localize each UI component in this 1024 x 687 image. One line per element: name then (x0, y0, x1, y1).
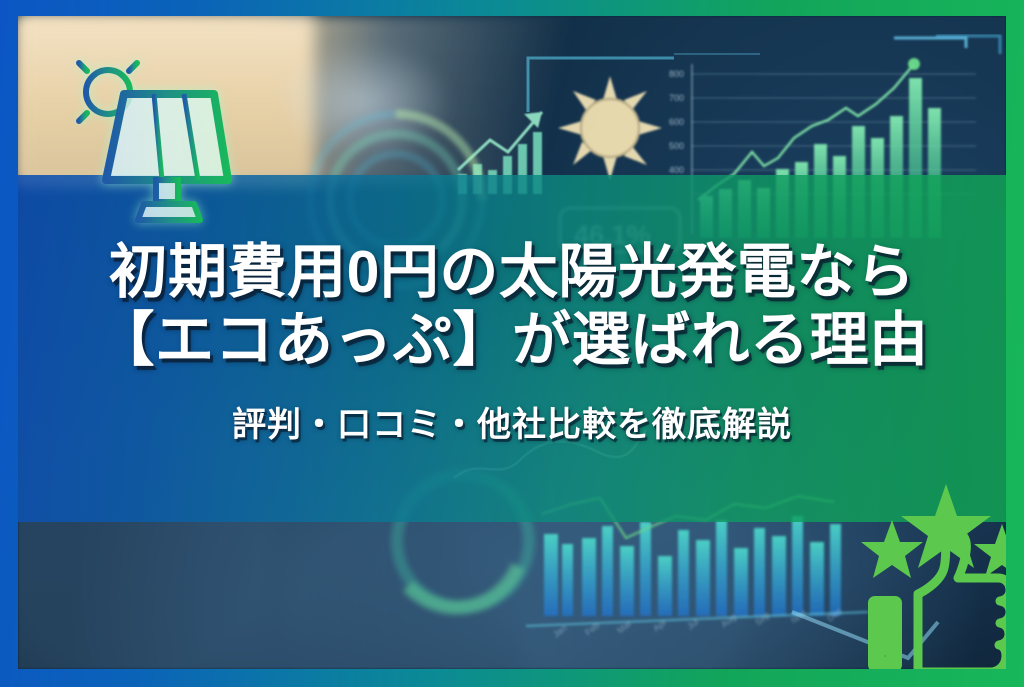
solar-panel-icon (48, 38, 248, 228)
promo-banner: 800 700 600 500 400 (0, 0, 1024, 687)
subtitle: 評判・口コミ・他社比較を徹底解説 (18, 397, 1006, 446)
title-line-1: 初期費用0円の太陽光発電なら (18, 238, 1006, 306)
title-line-2: 【エコあっぷ】が選ばれる理由 (18, 306, 1006, 374)
solar-panel-glyph (106, 94, 228, 220)
hud-frame-lines (524, 50, 764, 180)
title-block: 初期費用0円の太陽光発電なら 【エコあっぷ】が選ばれる理由 評判・口コミ・他社比… (18, 238, 1006, 446)
star-icon (861, 484, 1006, 578)
banner-stage: 800 700 600 500 400 (18, 16, 1006, 669)
thumbs-up-icon (856, 478, 1006, 669)
